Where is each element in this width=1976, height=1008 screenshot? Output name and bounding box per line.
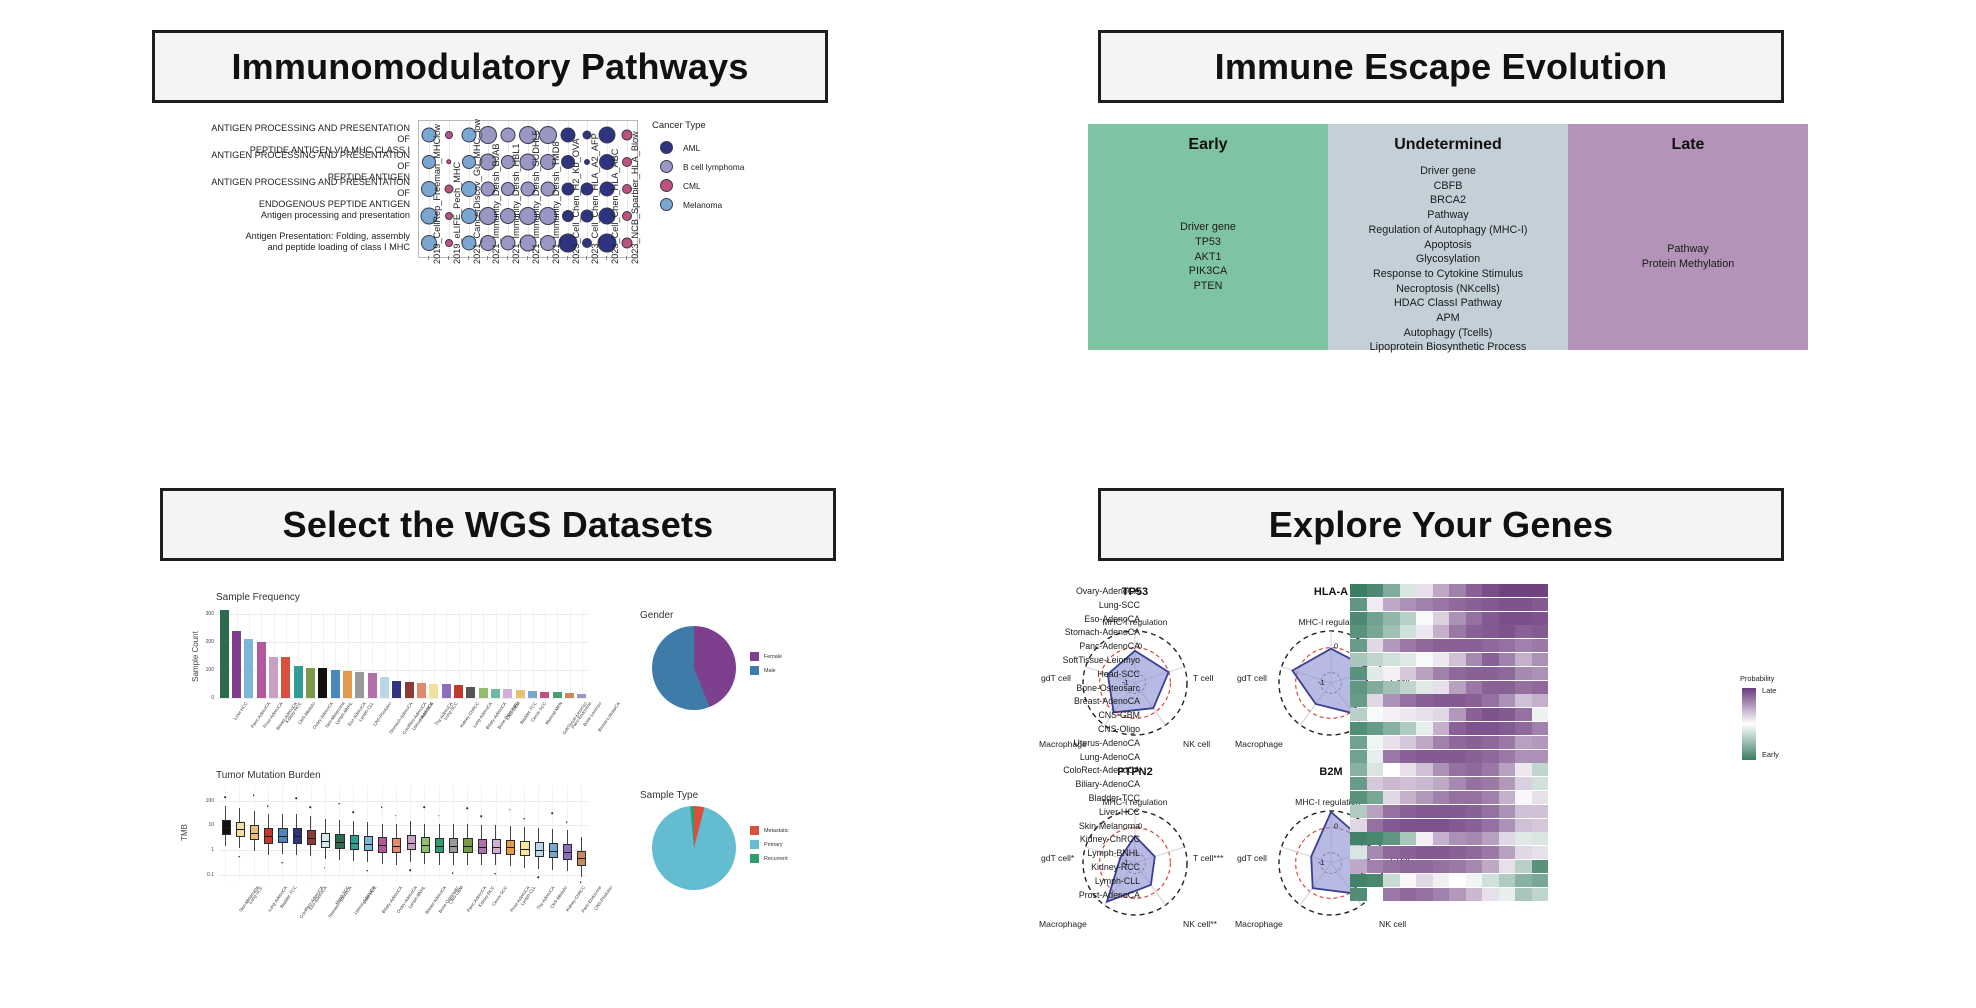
heatmap-cell	[1367, 888, 1384, 901]
tmb-boxplot[interactable]	[506, 786, 513, 882]
heatmap-cell	[1532, 846, 1549, 859]
evolution-item: AKT1	[1180, 250, 1236, 265]
heatmap-cell	[1350, 874, 1367, 887]
heatmap-cell	[1400, 750, 1417, 763]
heatmap-cell	[1532, 763, 1549, 776]
heatmap-cell	[1416, 612, 1433, 625]
frequency-bar[interactable]	[294, 666, 303, 698]
heatmap-cell	[1499, 777, 1516, 790]
frequency-bar[interactable]	[232, 631, 241, 698]
dotplot-column-label: 2021_Immunity_Dersh_TMD8	[551, 141, 561, 264]
boxplot-box	[378, 837, 387, 852]
sample-type-legend-item[interactable]: Primary	[750, 840, 789, 849]
frequency-bar[interactable]	[306, 668, 315, 698]
heatmap-cell	[1433, 625, 1450, 638]
heatmap-cell	[1449, 791, 1466, 804]
heatmap-row-label: Biliary-AdenoCA	[1075, 779, 1140, 789]
heatmap-cell	[1482, 846, 1499, 859]
heatmap-cell	[1416, 750, 1433, 763]
heatmap-cell	[1350, 612, 1367, 625]
heatmap-cell	[1532, 584, 1549, 597]
heatmap-row[interactable]	[1350, 612, 1548, 625]
heatmap-cell	[1416, 722, 1433, 735]
heatmap-row[interactable]	[1350, 708, 1548, 721]
heatmap-cell	[1433, 791, 1450, 804]
heatmap-row[interactable]	[1350, 805, 1548, 818]
evolution-column-items: Driver geneCBFBBRCA2PathwayRegulation of…	[1368, 164, 1527, 355]
heatmap-row[interactable]	[1350, 860, 1548, 873]
heatmap-cell	[1367, 763, 1384, 776]
heatmap-cell	[1367, 598, 1384, 611]
frequency-bar[interactable]	[220, 610, 229, 698]
heatmap-cell	[1532, 791, 1549, 804]
tmb-ylabel: TMB	[180, 824, 189, 841]
heatmap-cell	[1350, 722, 1367, 735]
heatmap-row-label: CNS-Oligo	[1098, 724, 1140, 734]
radar-axis-label: Macrophage	[1235, 919, 1283, 929]
colorbar-early-label: Early	[1762, 750, 1779, 759]
heatmap-row[interactable]	[1350, 832, 1548, 845]
frequency-bar[interactable]	[553, 692, 562, 698]
heatmap-cell	[1515, 612, 1532, 625]
heatmap-cell	[1499, 681, 1516, 694]
frequency-bar[interactable]	[405, 682, 414, 698]
tmb-boxplot[interactable]	[492, 786, 499, 882]
radar-axis-label: gdT cell*	[1041, 853, 1074, 863]
boxplot-box	[506, 840, 515, 855]
heatmap-cell	[1383, 667, 1400, 680]
legend-dot-icon	[660, 160, 673, 173]
boxplot-outlier	[253, 794, 255, 796]
boxplot-median	[436, 846, 443, 847]
heatmap-cell	[1515, 763, 1532, 776]
frequency-bar[interactable]	[442, 684, 451, 698]
heatmap-cell	[1350, 584, 1367, 597]
heatmap-cell	[1383, 791, 1400, 804]
heatmap-cell	[1499, 722, 1516, 735]
tmb-boxplot[interactable]	[435, 786, 442, 882]
sample-type-pie-chart	[652, 806, 736, 890]
heatmap-cell	[1499, 791, 1516, 804]
svg-text:0: 0	[1334, 642, 1338, 651]
heatmap-cell	[1449, 639, 1466, 652]
radar-axis-label: T cell***	[1193, 853, 1223, 863]
dotplot-legend: Cancer Type AMLB cell lymphomaCMLMelanom…	[652, 120, 812, 214]
dotplot-legend-item[interactable]: B cell lymphoma	[652, 157, 812, 176]
heatmap-row[interactable]	[1350, 763, 1548, 776]
heatmap-cell	[1433, 777, 1450, 790]
heatmap-cell	[1515, 832, 1532, 845]
heatmap-cell	[1499, 888, 1516, 901]
boxplot-outlier	[267, 805, 269, 807]
tmb-title: Tumor Mutation Burden	[216, 770, 321, 781]
heatmap-cell	[1466, 584, 1483, 597]
heatmap-cell	[1367, 777, 1384, 790]
radar-axis-label: gdT cell	[1041, 673, 1071, 683]
tmb-boxplot[interactable]	[236, 786, 243, 882]
boxplot-median	[379, 845, 386, 846]
tmb-boxplot[interactable]	[307, 786, 314, 882]
heatmap-row[interactable]	[1350, 584, 1548, 597]
frequency-bar[interactable]	[281, 657, 290, 698]
frequency-bar[interactable]	[269, 657, 278, 698]
boxplot-median	[408, 843, 415, 844]
heatmap-cell	[1466, 750, 1483, 763]
boxplot-box	[520, 841, 529, 856]
heatmap-cell	[1466, 694, 1483, 707]
heatmap-cell	[1350, 888, 1367, 901]
panel-title-text: Immune Escape Evolution	[1215, 46, 1668, 88]
tmb-boxplot[interactable]	[321, 786, 328, 882]
heatmap-cell	[1482, 805, 1499, 818]
frequency-bar[interactable]	[516, 690, 525, 698]
heatmap-cell	[1515, 819, 1532, 832]
dotplot-column-label: 2023_Cell_Chen_HLA_A2_AFP	[590, 133, 600, 264]
heatmap-cell	[1482, 736, 1499, 749]
frequency-bar[interactable]	[454, 685, 463, 698]
tmb-boxplot[interactable]	[549, 786, 556, 882]
heatmap-cell	[1383, 598, 1400, 611]
tmb-boxplot[interactable]	[364, 786, 371, 882]
heatmap-row-label: Liver-HCC	[1099, 807, 1140, 817]
svg-text:0: 0	[1334, 822, 1338, 831]
tmb-boxplot[interactable]	[407, 786, 414, 882]
heatmap-cell	[1482, 694, 1499, 707]
heatmap-cell	[1416, 846, 1433, 859]
boxplot-median	[578, 858, 585, 859]
dotplot-dot	[446, 159, 452, 165]
heatmap-cell	[1466, 722, 1483, 735]
heatmap-cell	[1416, 625, 1433, 638]
heatmap-cell	[1416, 888, 1433, 901]
tmb-boxplot[interactable]	[250, 786, 257, 882]
heatmap-row[interactable]	[1350, 750, 1548, 763]
heatmap-cell	[1499, 805, 1516, 818]
sample-frequency-ytick-label: 300	[192, 611, 214, 617]
heatmap-cell	[1400, 805, 1417, 818]
frequency-bar[interactable]	[257, 642, 266, 698]
heatmap-cell	[1367, 625, 1384, 638]
heatmap-cell	[1416, 598, 1433, 611]
tmb-boxplot[interactable]	[478, 786, 485, 882]
heatmap-cell	[1400, 819, 1417, 832]
heatmap-cell	[1367, 791, 1384, 804]
colorbar-late-label: Late	[1762, 686, 1776, 695]
boxplot-box	[577, 851, 586, 866]
heatmap-row-label: Lung-SCC	[1099, 600, 1140, 610]
boxplot-box	[364, 836, 373, 851]
heatmap-cell	[1532, 639, 1549, 652]
boxplot-box	[421, 837, 430, 852]
heatmap-row[interactable]	[1350, 791, 1548, 804]
frequency-bar[interactable]	[429, 684, 438, 698]
sample-type-legend-item[interactable]: Metastatic	[750, 826, 789, 835]
dotplot-row-label: Antigen Presentation: Folding, assemblya…	[200, 231, 410, 253]
heatmap-cell	[1466, 874, 1483, 887]
legend-swatch-icon	[750, 840, 759, 849]
heatmap-cell	[1449, 763, 1466, 776]
radar-axis-label: T cell	[1193, 673, 1213, 683]
frequency-bar[interactable]	[540, 692, 549, 698]
heatmap-row-label: Bladder-TCC	[1089, 793, 1140, 803]
heatmap-cell	[1515, 653, 1532, 666]
gridline	[483, 608, 484, 698]
heatmap-cell	[1466, 598, 1483, 611]
heatmap-cell	[1482, 888, 1499, 901]
heatmap-cell	[1449, 736, 1466, 749]
tmb-boxplot[interactable]	[535, 786, 542, 882]
boxplot-outlier	[409, 869, 411, 871]
heatmap-row[interactable]	[1350, 874, 1548, 887]
tmb-boxplot[interactable]	[392, 786, 399, 882]
gridline	[545, 608, 546, 698]
heatmap-cell	[1466, 708, 1483, 721]
immune-escape-evolution-columns: EarlyDriver geneTP53AKT1PIK3CAPTENUndete…	[1088, 124, 1808, 350]
gender-legend-item[interactable]: Male	[750, 666, 782, 675]
heatmap-cell	[1416, 639, 1433, 652]
heatmap-cell	[1449, 805, 1466, 818]
evolution-item: Lipoprotein Biosynthetic Process	[1368, 340, 1527, 355]
frequency-bar[interactable]	[528, 691, 537, 698]
heatmap-row[interactable]	[1350, 819, 1548, 832]
panel-title-text: Immunomodulatory Pathways	[231, 46, 748, 88]
heatmap-cell	[1466, 667, 1483, 680]
heatmap-cell	[1400, 598, 1417, 611]
dotplot-dot	[445, 131, 453, 139]
tmb-boxplot[interactable]	[278, 786, 285, 882]
heatmap-row-label: Lung-AdenoCA	[1080, 752, 1140, 762]
heatmap-cell	[1499, 750, 1516, 763]
heatmap-cell	[1482, 777, 1499, 790]
evolution-item: Autophagy (Tcells)	[1368, 326, 1527, 341]
heatmap-cell	[1532, 888, 1549, 901]
heatmap-cell	[1367, 874, 1384, 887]
tmb-boxplot[interactable]	[378, 786, 385, 882]
heatmap-cell	[1515, 846, 1532, 859]
boxplot-outlier	[310, 807, 312, 809]
heatmap-row[interactable]	[1350, 598, 1548, 611]
tmb-boxplot[interactable]	[421, 786, 428, 882]
tmb-ytick-label: 0.1	[192, 872, 214, 878]
boxplot-outlier	[495, 873, 497, 875]
boxplot-box	[549, 843, 558, 858]
dotplot-legend-label: CML	[683, 181, 701, 191]
heatmap-row[interactable]	[1350, 694, 1548, 707]
heatmap-cell	[1433, 639, 1450, 652]
heatmap-cell	[1433, 819, 1450, 832]
tmb-boxplot[interactable]	[264, 786, 271, 882]
heatmap-cell	[1350, 708, 1367, 721]
boxplot-median	[336, 842, 343, 843]
heatmap-row[interactable]	[1350, 777, 1548, 790]
tmb-boxplot[interactable]	[577, 786, 584, 882]
heatmap-cell	[1499, 763, 1516, 776]
dotplot-xtick	[547, 256, 548, 260]
heatmap-cell	[1466, 805, 1483, 818]
sample-frequency-plot	[218, 608, 588, 698]
heatmap-cell	[1482, 598, 1499, 611]
frequency-bar[interactable]	[380, 677, 389, 698]
heatmap-cell	[1416, 777, 1433, 790]
dotplot-legend-item[interactable]: AML	[652, 138, 812, 157]
heatmap-cell	[1515, 805, 1532, 818]
heatmap-cell	[1466, 681, 1483, 694]
heatmap-row[interactable]	[1350, 736, 1548, 749]
heatmap-cell	[1416, 763, 1433, 776]
frequency-bar[interactable]	[503, 689, 512, 698]
heatmap-cell	[1383, 888, 1400, 901]
heatmap-row[interactable]	[1350, 639, 1548, 652]
sample-type-pie-title: Sample Type	[640, 790, 698, 801]
boxplot-box	[264, 828, 273, 843]
heatmap-cell	[1383, 584, 1400, 597]
heatmap-cell	[1350, 791, 1367, 804]
dotplot-xtick	[468, 256, 469, 260]
boxplot-box	[222, 820, 231, 835]
boxplot-box	[392, 838, 401, 853]
heatmap-cell	[1367, 681, 1384, 694]
heatmap-row[interactable]	[1350, 625, 1548, 638]
heatmap-cell	[1532, 722, 1549, 735]
boxplot-median	[450, 846, 457, 847]
dotplot-legend-item[interactable]: CML	[652, 176, 812, 195]
heatmap-cell	[1482, 612, 1499, 625]
dotplot-row-label: ANTIGEN PROCESSING AND PRESENTATION OFEN…	[200, 177, 410, 210]
dotplot-legend-item[interactable]: Melanoma	[652, 195, 812, 214]
frequency-bar[interactable]	[479, 688, 488, 698]
heatmap-row[interactable]	[1350, 667, 1548, 680]
heatmap-row[interactable]	[1350, 888, 1548, 901]
dotplot-row-label: Antigen processing and presentation	[200, 210, 410, 221]
boxplot-median	[279, 836, 286, 837]
heatmap-cell	[1449, 694, 1466, 707]
heatmap-cell	[1367, 694, 1384, 707]
heatmap-cell	[1367, 805, 1384, 818]
heatmap-cell	[1400, 736, 1417, 749]
legend-dot-icon	[660, 198, 673, 211]
heatmap-cell	[1515, 722, 1532, 735]
boxplot-median	[393, 846, 400, 847]
frequency-bar[interactable]	[577, 694, 586, 698]
boxplot-median	[351, 843, 358, 844]
tmb-boxplot[interactable]	[222, 786, 229, 882]
legend-swatch-icon	[750, 652, 759, 661]
heatmap-cell	[1499, 598, 1516, 611]
evolution-item: PTEN	[1180, 279, 1236, 294]
heatmap-cell	[1499, 653, 1516, 666]
evolution-item: Apoptosis	[1368, 238, 1527, 253]
heatmap-cell	[1466, 777, 1483, 790]
tmb-boxplot[interactable]	[293, 786, 300, 882]
heatmap-cell	[1350, 625, 1367, 638]
heatmap-row-label: Lymph-CLL	[1095, 876, 1140, 886]
heatmap-cell	[1433, 860, 1450, 873]
boxplot-box	[236, 822, 245, 837]
heatmap-cell	[1350, 846, 1367, 859]
evolution-column[interactable]: EarlyDriver geneTP53AKT1PIK3CAPTEN	[1088, 124, 1328, 350]
heatmap-cell	[1515, 598, 1532, 611]
panel-title-immunomodulatory-pathways: Immunomodulatory Pathways	[152, 30, 828, 103]
boxplot-outlier	[523, 818, 525, 820]
dotplot-dot	[479, 126, 497, 144]
heatmap-cell	[1367, 846, 1384, 859]
heatmap-cell	[1383, 819, 1400, 832]
tmb-boxplot[interactable]	[463, 786, 470, 882]
heatmap-cell	[1383, 763, 1400, 776]
frequency-bar[interactable]	[355, 672, 364, 698]
heatmap-cell	[1367, 722, 1384, 735]
frequency-bar[interactable]	[466, 687, 475, 698]
svg-text:-1: -1	[1318, 678, 1325, 687]
frequency-bar[interactable]	[343, 671, 352, 698]
heatmap-cell	[1482, 667, 1499, 680]
heatmap-cell	[1482, 722, 1499, 735]
panel-title-text: Select the WGS Datasets	[283, 504, 714, 546]
heatmap-cell	[1400, 694, 1417, 707]
heatmap-cell	[1367, 584, 1384, 597]
heatmap-cell	[1383, 681, 1400, 694]
frequency-bar[interactable]	[417, 683, 426, 698]
gridline	[570, 608, 571, 698]
heatmap-row[interactable]	[1350, 722, 1548, 735]
tmb-plot	[218, 786, 588, 882]
evolution-column[interactable]: LatePathwayProtein Methylation	[1568, 124, 1808, 350]
tmb-boxplot[interactable]	[520, 786, 527, 882]
frequency-bar[interactable]	[565, 693, 574, 698]
gridline	[533, 608, 534, 698]
radar-axis-label: NK cell	[1183, 739, 1210, 749]
boxplot-box	[535, 842, 544, 857]
frequency-bar[interactable]	[331, 670, 340, 698]
heatmap-cell	[1383, 612, 1400, 625]
frequency-bar[interactable]	[318, 668, 327, 698]
heatmap-row[interactable]	[1350, 681, 1548, 694]
sample-frequency-ytick-label: 200	[192, 639, 214, 645]
heatmap-cell	[1515, 736, 1532, 749]
tmb-boxplot[interactable]	[449, 786, 456, 882]
gender-pie-title: Gender	[640, 610, 673, 621]
gender-legend-label: Male	[764, 668, 776, 674]
heatmap-cell	[1466, 639, 1483, 652]
tmb-boxplot[interactable]	[350, 786, 357, 882]
gender-legend-item[interactable]: Female	[750, 652, 782, 661]
boxplot-median	[251, 833, 258, 834]
heatmap-cell	[1383, 722, 1400, 735]
frequency-bar[interactable]	[368, 673, 377, 698]
heatmap-cell	[1383, 777, 1400, 790]
dotplot-xtick	[606, 256, 607, 260]
boxplot-median	[507, 847, 514, 848]
sample-type-legend-label: Metastatic	[764, 828, 789, 834]
frequency-bar[interactable]	[491, 689, 500, 698]
frequency-bar[interactable]	[244, 639, 253, 698]
sample-type-legend-label: Primary	[764, 842, 783, 848]
heatmap-cell	[1433, 612, 1450, 625]
heatmap-cell	[1433, 846, 1450, 859]
heatmap-cell	[1350, 598, 1367, 611]
sample-type-legend-item[interactable]: Recurrent	[750, 854, 789, 863]
dotplot-xtick	[507, 256, 508, 260]
tmb-ytick-label: 10	[192, 822, 214, 828]
tmb-boxplot[interactable]	[335, 786, 342, 882]
heatmap-row[interactable]	[1350, 846, 1548, 859]
heatmap-cell	[1499, 860, 1516, 873]
heatmap-cell	[1367, 860, 1384, 873]
tmb-boxplot[interactable]	[563, 786, 570, 882]
frequency-bar[interactable]	[392, 681, 401, 698]
evolution-column[interactable]: UndeterminedDriver geneCBFBBRCA2PathwayR…	[1328, 124, 1568, 350]
heatmap-row[interactable]	[1350, 653, 1548, 666]
